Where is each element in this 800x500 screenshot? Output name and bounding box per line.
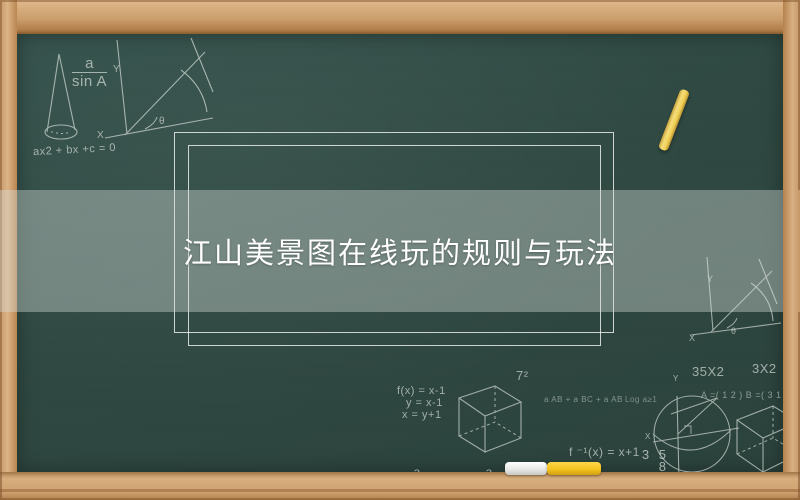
sphere-axis-x: X: [645, 432, 651, 441]
set-note-center: a AB + a BC + a AB: [544, 395, 623, 404]
banner-stage: a sin A ax2 + bx +c = 0 Y X θ Y X θ: [0, 0, 800, 500]
alog-note: alog (bc): [615, 471, 655, 472]
function-line-1: f(x) = x-1: [397, 385, 446, 397]
chalk-stick-yellow-icon: [547, 462, 601, 475]
subtraction-column: 3 5 8 2 7 9 6 3 7: [629, 449, 669, 472]
cube-drawing-right: [729, 392, 783, 472]
function-line-2: y = x-1: [406, 397, 443, 409]
angle-label-right: θ: [731, 326, 737, 336]
page-title: 江山美景图在线玩的规则与玩法: [0, 190, 800, 312]
expression-3x2: 3X2: [752, 361, 777, 376]
power-seven: 7²: [516, 368, 529, 383]
chalk-stick-white-icon: [505, 462, 547, 475]
axis-label-x-right: X: [689, 333, 696, 343]
law-of-sines-bottom-center: a sin A: [475, 466, 504, 472]
law-of-sines-bottom-left: a sin A: [403, 466, 432, 472]
page-title-text: 江山美景图在线玩的规则与玩法: [183, 230, 617, 272]
angle-label-top-left: θ: [159, 116, 165, 127]
function-line-3: x = y+1: [402, 409, 442, 421]
axis-label-y-top-left: Y: [113, 64, 120, 75]
cube-drawing-center: [447, 374, 529, 456]
axis-label-x-top-left: X: [97, 130, 104, 141]
sphere-axis-y: Y: [673, 374, 679, 383]
subtraction-minuend: 3 5 8: [629, 449, 669, 472]
